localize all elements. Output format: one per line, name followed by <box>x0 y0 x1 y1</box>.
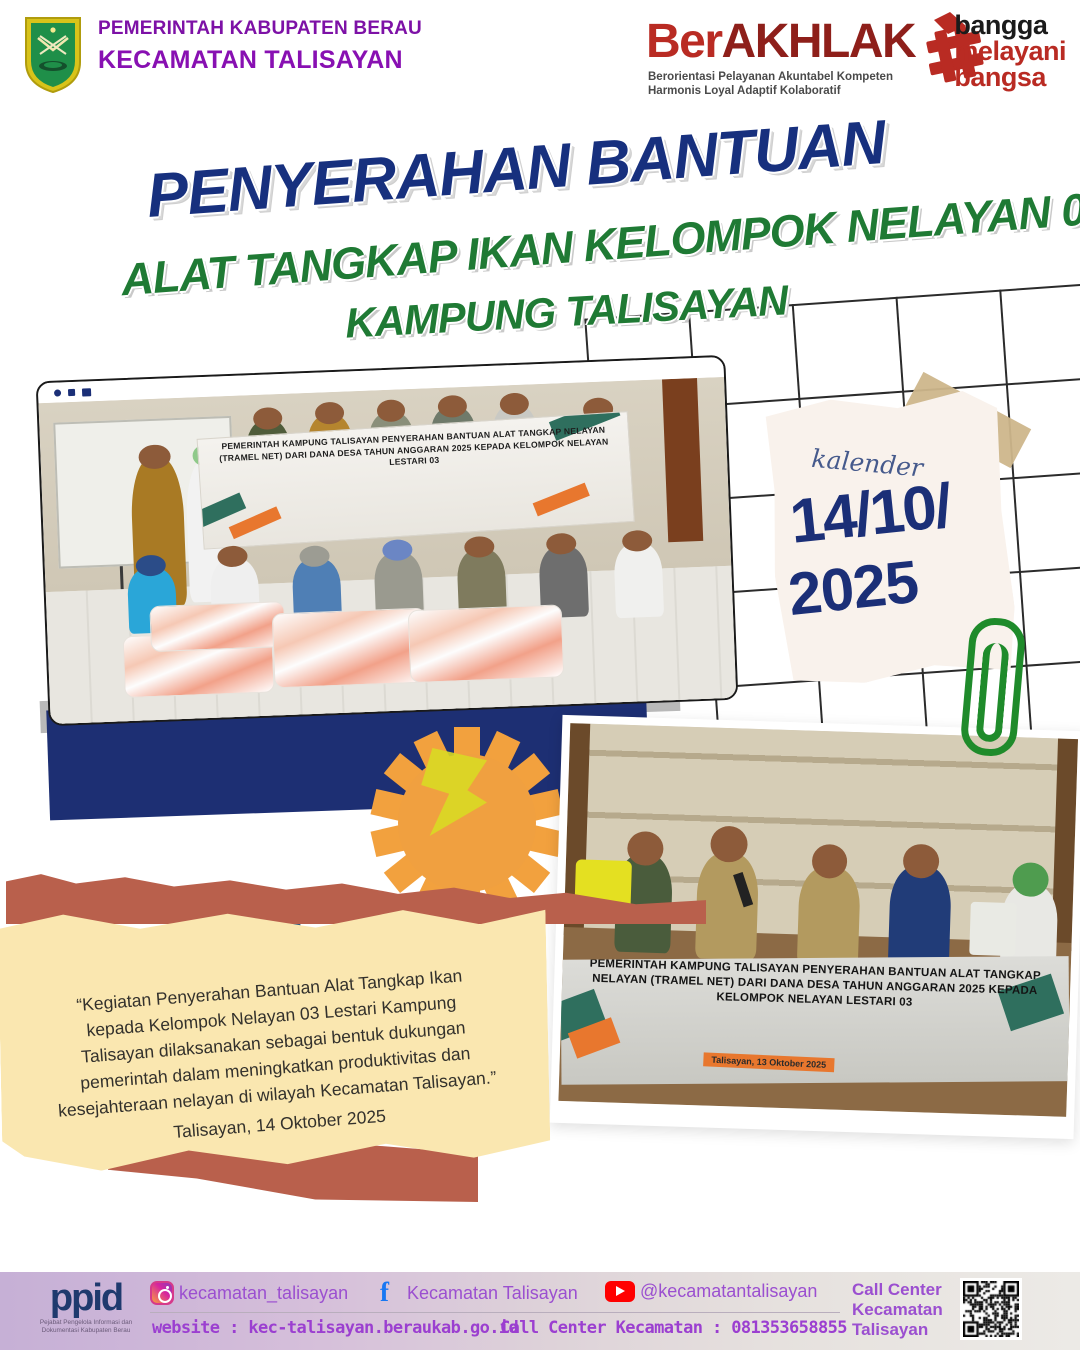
photo1-image: PEMERINTAH KAMPUNG TALISAYAN PENYERAHAN … <box>38 377 736 726</box>
berakhlak-values: Berorientasi Pelayanan Akuntabel Kompete… <box>648 70 893 98</box>
tagline-word-3: bangsa <box>954 64 1066 90</box>
facebook-icon: f <box>380 1281 402 1305</box>
tagline-word-2: melayani <box>954 38 1066 64</box>
government-name: PEMERINTAH KABUPATEN BERAU <box>98 18 422 40</box>
ppid-wordmark: ppid <box>26 1278 146 1318</box>
quote-text-block: “Kegiatan Penyerahan Bantuan Alat Tangka… <box>49 960 500 1153</box>
qr-caption-line2: Kecamatan <box>852 1300 943 1320</box>
window-dot-icon <box>54 389 61 396</box>
berau-regency-crest-icon <box>22 14 84 94</box>
ppid-logo: ppid Pejabat Pengelola Informasi dan Dok… <box>26 1278 146 1344</box>
quote-body: “Kegiatan Penyerahan Bantuan Alat Tangka… <box>57 965 497 1120</box>
main-title-block: PENYERAHAN BANTUAN ALAT TANGKAP IKAN KEL… <box>0 118 1080 338</box>
quote-note-card: “Kegiatan Penyerahan Bantuan Alat Tangka… <box>0 899 551 1172</box>
footer-divider <box>150 1312 840 1313</box>
instagram-handle: kecamatan_talisayan <box>179 1283 348 1304</box>
poster-footer: ppid Pejabat Pengelola Informasi dan Dok… <box>0 1272 1080 1350</box>
facebook-link[interactable]: f Kecamatan Talisayan <box>380 1281 578 1305</box>
poster-header: PEMERINTAH KABUPATEN BERAU KECAMATAN TAL… <box>0 0 1080 110</box>
berakhlak-logo: BerAKHLAK Berorientasi Pelayanan Akuntab… <box>646 8 1066 104</box>
berakhlak-suffix: AKHLAK <box>722 15 916 68</box>
facebook-handle: Kecamatan Talisayan <box>407 1283 578 1304</box>
photo2-banner-stamp: Talisayan, 13 Oktober 2025 <box>703 1052 834 1072</box>
bangga-melayani-bangsa: bangga melayani bangsa <box>954 12 1066 90</box>
photo2-banner: PEMERINTAH KAMPUNG TALISAYAN PENYERAHAN … <box>561 956 1070 1084</box>
ppid-subtitle: Pejabat Pengelola Informasi dan Dokument… <box>26 1319 146 1335</box>
qr-caption-line3: Talisayan <box>852 1320 943 1340</box>
berakhlak-values-line2: Harmonis Loyal Adaptif Kolaboratif <box>648 84 893 98</box>
qr-caption: Call Center Kecamatan Talisayan <box>852 1280 943 1340</box>
qr-caption-line1: Call Center <box>852 1280 943 1300</box>
photo-group-handover: PEMERINTAH KAMPUNG TALISAYAN PENYERAHAN … <box>36 355 739 726</box>
photo-meeting-table: PEMERINTAH KAMPUNG TALISAYAN PENYERAHAN … <box>550 715 1080 1139</box>
berakhlak-prefix: Ber <box>646 15 722 68</box>
calendar-date-line1: 14/10/ <box>787 470 954 557</box>
website-text: website : kec-talisayan.beraukab.go.id <box>152 1318 518 1338</box>
district-name: KECAMATAN TALISAYAN <box>98 46 422 75</box>
photo2-banner-text: PEMERINTAH KAMPUNG TALISAYAN PENYERAHAN … <box>561 956 1070 1015</box>
title-line-3: KAMPUNG TALISAYAN <box>344 276 789 347</box>
tagline-word-1: bangga <box>954 12 1066 38</box>
qr-code[interactable] <box>960 1278 1022 1340</box>
window-triangle-icon <box>82 388 91 396</box>
header-text-block: PEMERINTAH KABUPATEN BERAU KECAMATAN TAL… <box>98 18 422 75</box>
berakhlak-values-line1: Berorientasi Pelayanan Akuntabel Kompete… <box>648 70 893 84</box>
poster-canvas: PEMERINTAH KABUPATEN BERAU KECAMATAN TAL… <box>0 0 1080 1350</box>
instagram-link[interactable]: kecamatan_talisayan <box>150 1281 348 1305</box>
youtube-link[interactable]: @kecamatantalisayan <box>605 1281 817 1302</box>
green-paperclip-icon <box>959 616 1027 758</box>
fishing-net-bundles <box>121 578 578 716</box>
callcenter-text: Call Center Kecamatan : 081353658855 <box>500 1318 847 1338</box>
berakhlak-wordmark: BerAKHLAK <box>646 14 915 69</box>
youtube-handle: @kecamatantalisayan <box>640 1281 817 1302</box>
calendar-date-line2: 2025 <box>785 547 921 629</box>
instagram-icon <box>150 1281 174 1305</box>
youtube-icon <box>605 1281 635 1302</box>
window-square-icon <box>68 389 75 396</box>
social-links-row: kecamatan_talisayan f Kecamatan Talisaya… <box>150 1278 840 1312</box>
